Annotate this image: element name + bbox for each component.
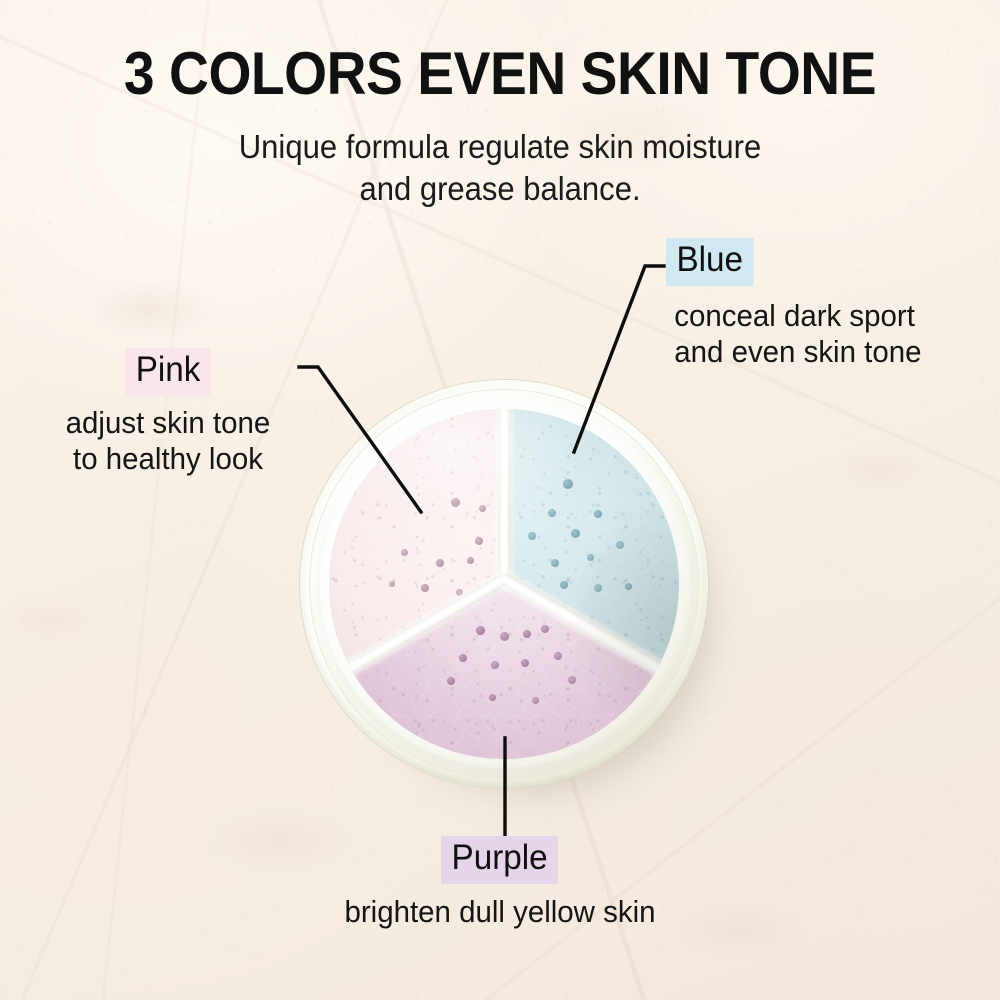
subtitle-line-1: Unique formula regulate skin moisture (30, 126, 970, 168)
bead (594, 510, 602, 518)
powder-divider-top (498, 409, 511, 588)
subtitle-block: Unique formula regulate skin moisture an… (30, 126, 970, 210)
callout-purple-description: brighten dull yellow skin (263, 894, 738, 930)
callout-blue-label: Blue (666, 238, 753, 286)
callout-blue-description: conceal dark sport and even skin tone (674, 298, 988, 371)
bead (625, 583, 632, 590)
bead (551, 559, 559, 567)
bead (532, 697, 539, 704)
bead (447, 677, 455, 685)
page-title: 3 COLORS EVEN SKIN TONE (40, 44, 960, 104)
bead (451, 498, 460, 507)
bead (401, 549, 408, 556)
bead (541, 625, 549, 633)
bead (560, 581, 568, 589)
bead (548, 509, 556, 517)
bead (389, 581, 395, 587)
callout-pink: Pink adjust skin tone to healthy look (18, 348, 318, 477)
bead (528, 532, 536, 540)
callout-pink-label: Pink (125, 348, 211, 396)
callout-pink-description: adjust skin tone to healthy look (26, 405, 311, 478)
subtitle-line-2: and grease balance. (30, 168, 970, 210)
bead (476, 626, 485, 635)
callout-purple-label: Purple (441, 836, 558, 884)
bead (523, 630, 531, 638)
bead (587, 554, 594, 561)
callout-blue: Blue conceal dark sport and even skin to… (666, 238, 996, 370)
bead (491, 661, 499, 669)
bead (594, 584, 602, 592)
bead (467, 557, 474, 564)
bead (568, 676, 576, 684)
bead (563, 479, 573, 489)
callout-purple: Purple brighten dull yellow skin (250, 836, 750, 930)
bead (554, 652, 562, 660)
bead (475, 537, 483, 545)
powder-pan (329, 409, 679, 759)
bead (489, 694, 496, 701)
bead (571, 529, 580, 538)
bead (421, 584, 429, 592)
product-compact (300, 380, 712, 792)
bead (521, 659, 529, 667)
bead (436, 559, 444, 567)
headline-block: 3 COLORS EVEN SKIN TONE Unique formula r… (0, 44, 1000, 210)
bead (500, 632, 509, 641)
bead (459, 654, 467, 662)
bead (616, 541, 624, 549)
bead (479, 505, 486, 512)
